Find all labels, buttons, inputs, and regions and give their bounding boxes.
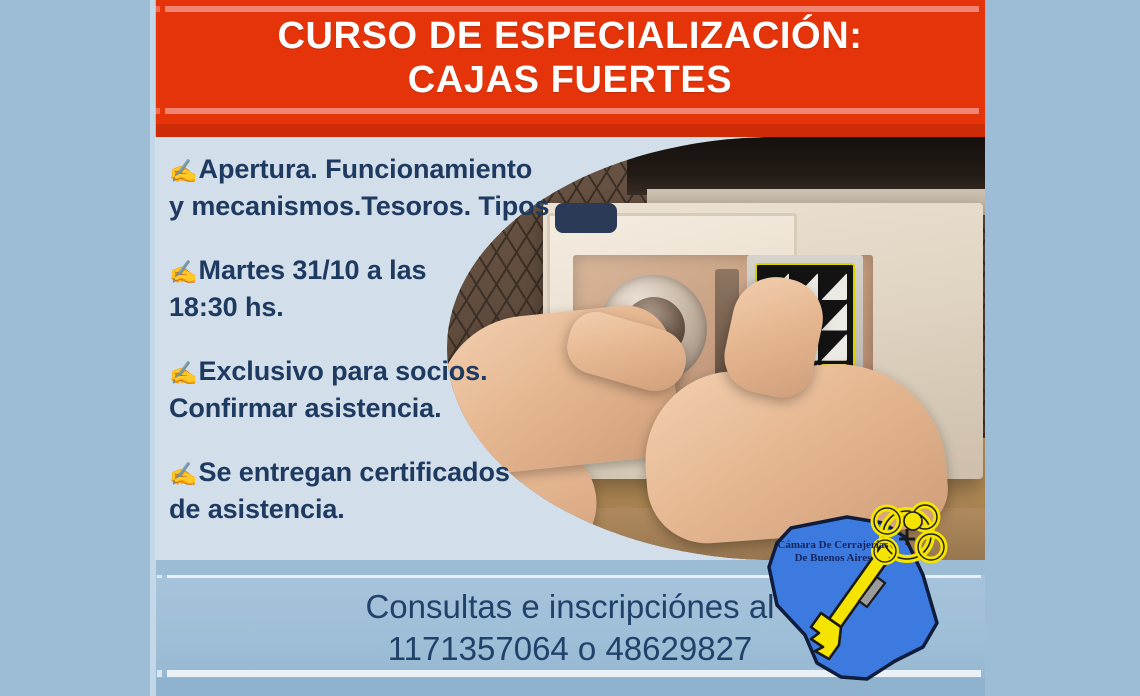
writing-hand-icon: ✍ <box>169 456 198 492</box>
title-line-1: CURSO DE ESPECIALIZACIÓN: <box>277 15 862 57</box>
bullet-item-2: ✍Martes 31/10 a las 18:30 hs. <box>169 252 625 325</box>
bullet-1-line-1: Apertura. Funcionamiento <box>199 154 533 184</box>
keypad-key <box>821 273 847 300</box>
bullet-2-line-2: 18:30 hs. <box>169 289 625 325</box>
photo-ceiling <box>627 137 985 195</box>
writing-hand-icon: ✍ <box>169 254 198 290</box>
logo-text: Cámara De Cerrajerías De Buenos Aires <box>763 539 903 565</box>
bullet-4-line-2: de asistencia. <box>169 491 625 527</box>
bullet-4-line-1: Se entregan certificados <box>199 457 510 487</box>
writing-hand-icon: ✍ <box>169 153 198 189</box>
banner-rule-bottom <box>165 108 979 114</box>
bullet-3-line-2: Confirmar asistencia. <box>169 390 625 426</box>
logo-text-line-1: Cámara De Cerrajerías <box>763 539 903 552</box>
writing-hand-icon: ✍ <box>169 355 198 391</box>
poster-canvas: CURSO DE ESPECIALIZACIÓN: CAJAS FUERTES <box>0 0 1140 696</box>
bullet-1-line-2: y mecanismos.Tesoros. Tipos <box>169 188 625 224</box>
header-banner: CURSO DE ESPECIALIZACIÓN: CAJAS FUERTES <box>155 0 985 137</box>
right-margin <box>985 0 1140 696</box>
banner-foot <box>155 124 985 137</box>
logo: Cámara De Cerrajerías De Buenos Aires <box>755 495 955 685</box>
title-line-2: CAJAS FUERTES <box>155 58 985 102</box>
left-margin <box>0 0 152 696</box>
banner-rule-top <box>165 6 979 12</box>
logo-text-line-2: De Buenos Aires <box>763 552 903 565</box>
bullet-item-3: ✍Exclusivo para socios. Confirmar asiste… <box>169 353 625 426</box>
bullet-item-1: ✍Apertura. Funcionamiento y mecanismos.T… <box>169 151 625 224</box>
logo-graphic <box>755 495 955 685</box>
bullet-3-line-1: Exclusivo para socios. <box>199 356 488 386</box>
keypad-key <box>821 334 847 361</box>
left-edge-strip <box>150 0 156 696</box>
page-title: CURSO DE ESPECIALIZACIÓN: CAJAS FUERTES <box>155 14 985 102</box>
keypad-key <box>821 303 847 330</box>
bullet-2-line-1: Martes 31/10 a las <box>199 255 427 285</box>
bullet-item-4: ✍Se entregan certificados de asistencia. <box>169 454 625 527</box>
bullet-list: ✍Apertura. Funcionamiento y mecanismos.T… <box>155 137 625 527</box>
